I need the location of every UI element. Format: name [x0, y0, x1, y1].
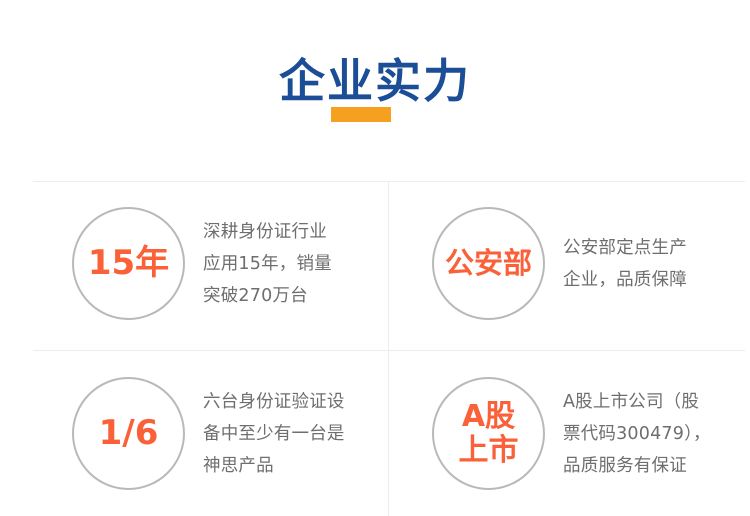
- promo-page: 企业实力 15年 深耕身份证行业 应用15年，销量 突破270万台 公安部 公安…: [0, 0, 750, 516]
- card-description-3: 六台身份证验证设 备中至少有一台是 神思产品: [203, 386, 383, 482]
- divider-horizontal-middle: [33, 350, 745, 351]
- badge-circle-3: 1/6: [72, 377, 185, 490]
- strength-card-3: 1/6 六台身份证验证设 备中至少有一台是 神思产品: [72, 377, 383, 490]
- strength-card-2: 公安部 公安部定点生产 企业，品质保障: [432, 207, 745, 320]
- strength-card-4: A股 上市 A股上市公司（股 票代码300479）， 品质服务有保证: [432, 377, 745, 490]
- page-title: 企业实力: [279, 54, 471, 108]
- card-description-1: 深耕身份证行业 应用15年，销量 突破270万台: [203, 216, 383, 312]
- divider-vertical: [388, 181, 389, 516]
- badge-label-1: 15年: [88, 246, 169, 282]
- page-title-inner: 企业实力: [279, 58, 471, 104]
- title-underline-bar: [331, 107, 391, 122]
- divider-horizontal-top: [33, 181, 745, 182]
- page-title-block: 企业实力: [0, 58, 750, 124]
- badge-label-2: 公安部: [445, 248, 532, 278]
- card-description-4: A股上市公司（股 票代码300479）， 品质服务有保证: [563, 386, 745, 482]
- badge-label-3: 1/6: [99, 416, 159, 452]
- badge-circle-2: 公安部: [432, 207, 545, 320]
- card-description-2: 公安部定点生产 企业，品质保障: [563, 232, 745, 296]
- badge-label-4: A股 上市: [459, 400, 519, 467]
- badge-circle-4: A股 上市: [432, 377, 545, 490]
- strength-card-1: 15年 深耕身份证行业 应用15年，销量 突破270万台: [72, 207, 383, 320]
- badge-circle-1: 15年: [72, 207, 185, 320]
